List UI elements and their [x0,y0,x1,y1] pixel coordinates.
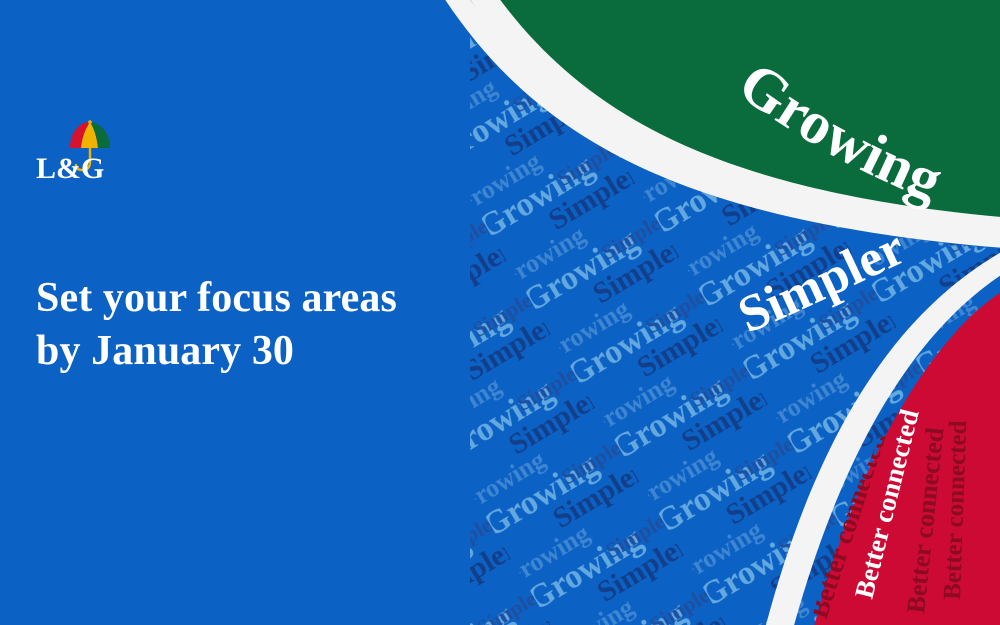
page-title: Set your focus areas by January 30 [36,272,506,378]
lg-logo: L&G [36,116,156,186]
headline-line-2: by January 30 [36,325,506,378]
slide-canvas: Growing Simpler Growing Simpler [0,0,1000,625]
headline-line-1: Set your focus areas [36,272,506,325]
logo-wordmark: L&G [36,152,104,185]
